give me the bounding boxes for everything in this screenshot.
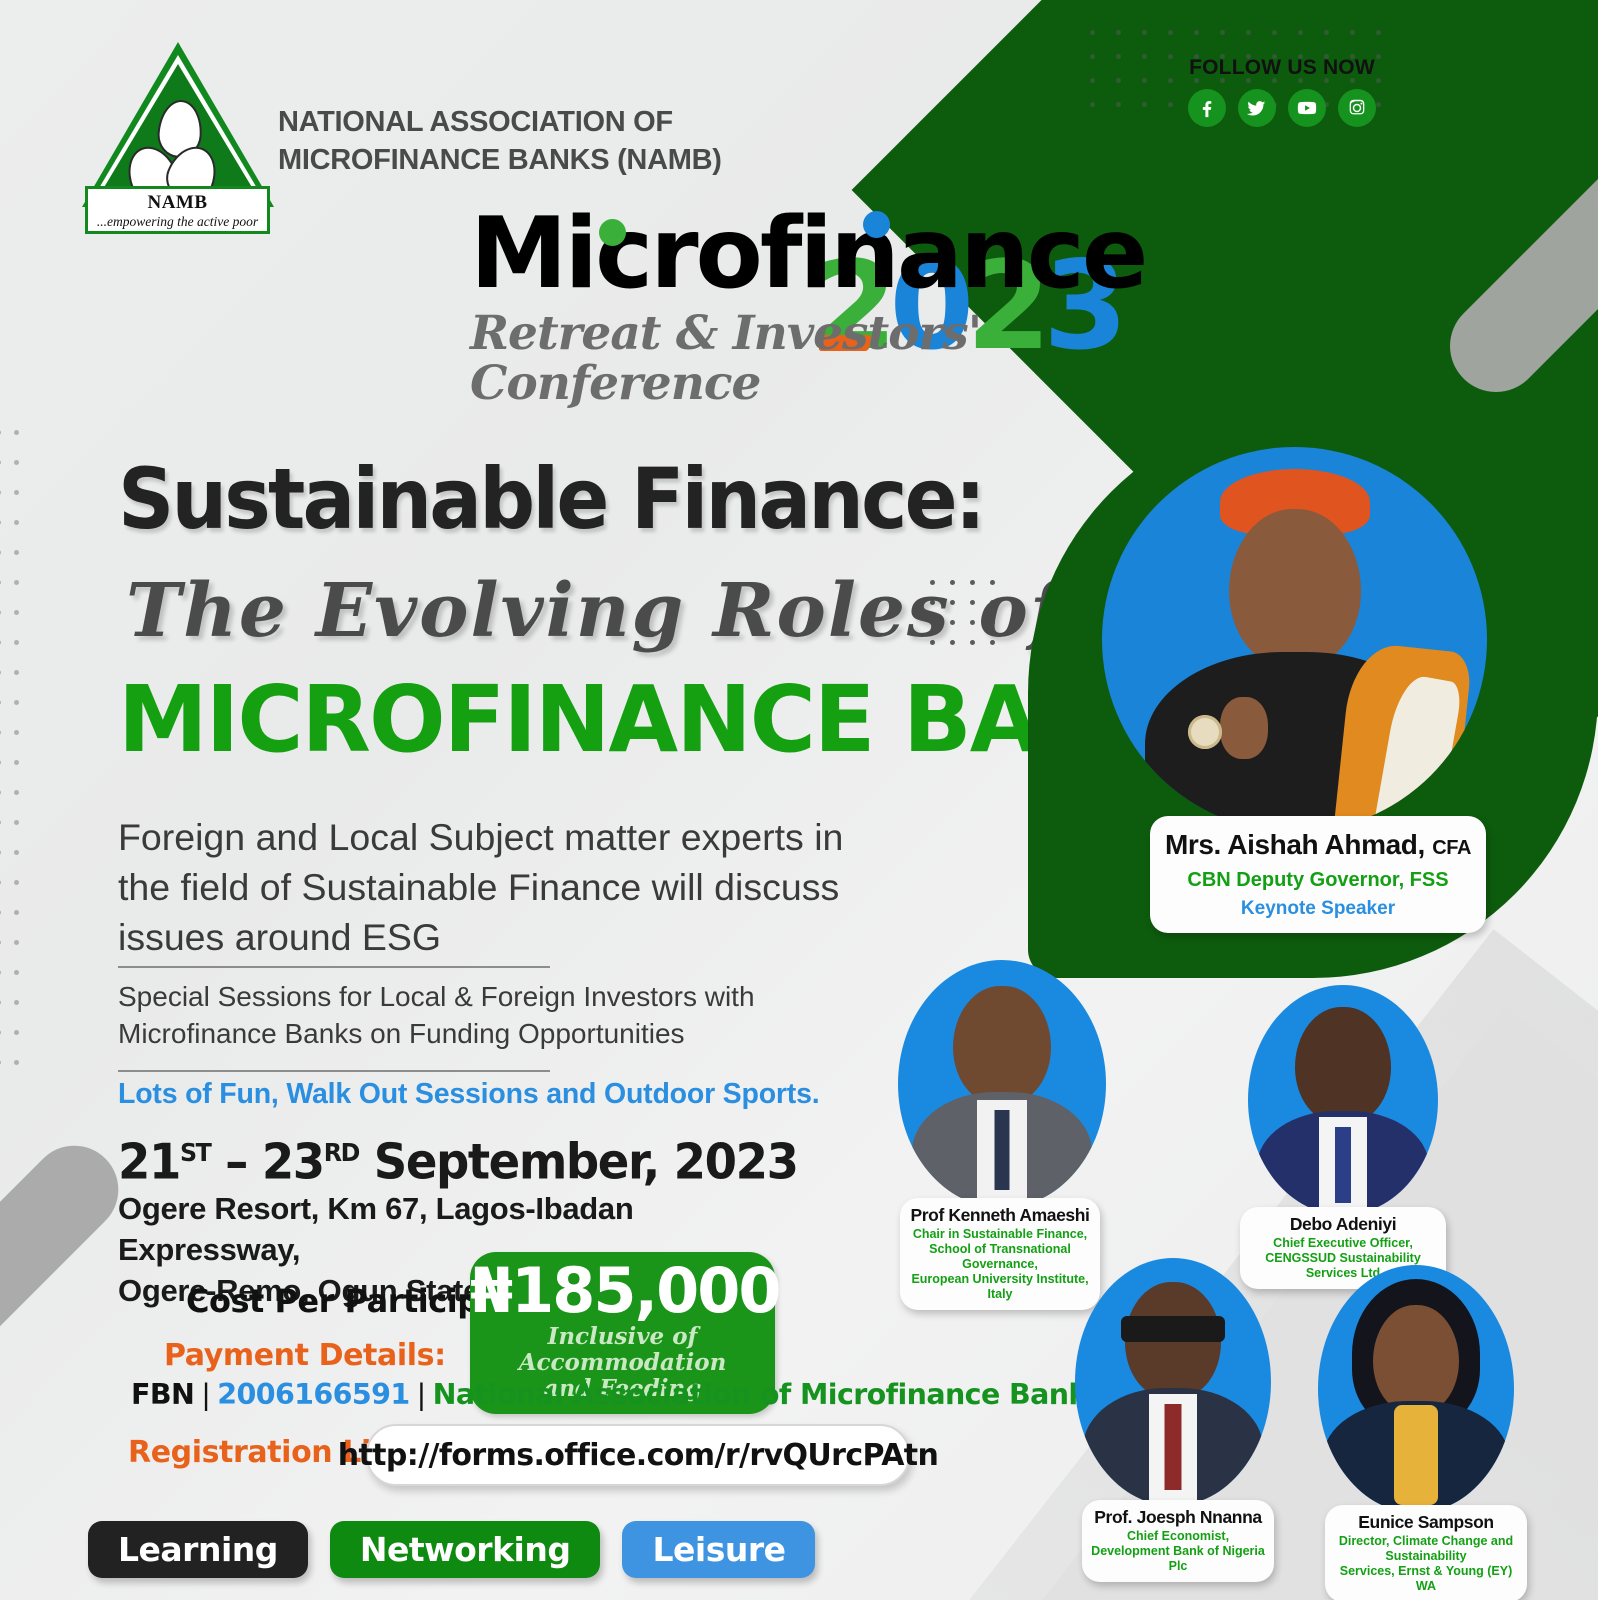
logo-subtitle-line2: Conference (470, 359, 1110, 409)
date-month-year: September, 2023 (374, 1133, 798, 1190)
logo-nameplate: NAMB ...empowering the active poor (85, 186, 270, 234)
speaker-photo-adeniyi (1248, 985, 1438, 1215)
gray-diagonal-bar-bottom (0, 1127, 137, 1472)
keynote-speaker-name: Mrs. Aishah Ahmad, CFA (1156, 828, 1480, 865)
keynote-speaker-tag: Keynote Speaker (1156, 896, 1480, 921)
organization-name-line2: MICROFINANCE BANKS (NAMB) (278, 141, 722, 179)
date-day-start-suffix: ST (180, 1138, 210, 1167)
speaker-name-sampson: Eunice Sampson (1330, 1512, 1522, 1533)
speaker-role-amaeshi: Chair in Sustainable Finance, School of … (905, 1227, 1095, 1302)
speaker-name-adeniyi: Debo Adeniyi (1245, 1214, 1441, 1235)
headline-line1: Sustainable Finance: (118, 455, 983, 543)
date-day-end-suffix: RD (324, 1138, 359, 1167)
social-icon-row (1188, 89, 1376, 127)
fun-activities-text: Lots of Fun, Walk Out Sessions and Outdo… (118, 1078, 819, 1111)
logo-wordmark: Microfinance (470, 205, 1110, 303)
organization-name: NATIONAL ASSOCIATION OF MICROFINANCE BAN… (278, 103, 722, 179)
keynote-speaker-role: CBN Deputy Governor, FSS (1156, 867, 1480, 893)
keynote-name-suffix: CFA (1432, 837, 1471, 859)
date-dash: – (225, 1133, 247, 1190)
price-note-line1: Inclusive of Accommodation (470, 1324, 775, 1376)
headline-line2: The Evolving Roles of (126, 570, 1064, 652)
speaker-role-sampson: Director, Climate Change and Sustainabil… (1330, 1534, 1522, 1594)
pill-networking[interactable]: Networking (330, 1521, 601, 1578)
youtube-icon[interactable] (1288, 89, 1326, 127)
speaker-photo-nnanna (1075, 1258, 1271, 1506)
logo-subtitle-line1: Retreat & Investors' (470, 309, 1110, 359)
logo-dot-i (599, 219, 626, 246)
instagram-icon[interactable] (1338, 89, 1376, 127)
speaker-role-amaeshi-l1: Chair in Sustainable Finance, (905, 1227, 1095, 1242)
speaker-role-amaeshi-l2: School of Transnational Governance, (905, 1242, 1095, 1272)
speaker-card-sampson: Eunice Sampson Director, Climate Change … (1325, 1505, 1527, 1600)
organization-name-line1: NATIONAL ASSOCIATION OF (278, 103, 722, 141)
registration-url: http://forms.office.com/r/rvQUrcPAtn (338, 1438, 939, 1473)
date-day-end: 23 (262, 1133, 324, 1190)
keynote-speaker-photo (1102, 447, 1487, 832)
registration-link-button[interactable]: http://forms.office.com/r/rvQUrcPAtn (366, 1424, 910, 1486)
facebook-icon[interactable] (1188, 89, 1226, 127)
payment-bank: FBN (131, 1378, 194, 1411)
event-poster: NAMB ...empowering the active poor NATIO… (0, 0, 1598, 1600)
speaker-role-nnanna-l2: Development Bank of Nigeria Plc (1087, 1544, 1269, 1574)
price-amount: ₦185,000 (470, 1260, 775, 1322)
speaker-photo-sampson (1318, 1265, 1514, 1513)
divider-1 (118, 966, 550, 968)
speaker-card-amaeshi: Prof Kenneth Amaeshi Chair in Sustainabl… (900, 1198, 1100, 1310)
microfinance-2023-logo: 2023 Microfinance Retreat & Investors' C… (470, 205, 1110, 410)
logo-acronym: NAMB (88, 192, 267, 214)
speaker-role-sampson-l1: Director, Climate Change and Sustainabil… (1330, 1534, 1522, 1564)
speaker-role-amaeshi-l3: European University Institute, Italy (905, 1272, 1095, 1302)
speaker-card-nnanna: Prof. Joesph Nnanna Chief Economist, Dev… (1082, 1500, 1274, 1582)
payment-account-number: 2006166591 (217, 1378, 409, 1411)
namb-logo: NAMB ...empowering the active poor (82, 42, 275, 234)
speaker-role-nnanna: Chief Economist, Development Bank of Nig… (1087, 1529, 1269, 1574)
theme-pill-row: Learning Networking Leisure (88, 1521, 815, 1578)
speaker-role-adeniyi-l1: Chief Executive Officer, (1245, 1236, 1441, 1251)
pill-leisure[interactable]: Leisure (622, 1521, 815, 1578)
speaker-role-nnanna-l1: Chief Economist, (1087, 1529, 1269, 1544)
divider-2 (118, 1070, 550, 1072)
special-sessions-text: Special Sessions for Local & Foreign Inv… (118, 978, 798, 1052)
payment-details-label: Payment Details: (164, 1338, 446, 1373)
speaker-name-nnanna: Prof. Joesph Nnanna (1087, 1507, 1269, 1528)
dot-pattern-left-edge (0, 430, 32, 1090)
body-main-text: Foreign and Local Subject matter experts… (118, 812, 878, 962)
keynote-name-text: Mrs. Aishah Ahmad, (1165, 829, 1425, 860)
speaker-photo-amaeshi (898, 960, 1106, 1208)
payment-account-name: National Association of Microfinance Ban… (433, 1378, 1104, 1411)
speaker-name-amaeshi: Prof Kenneth Amaeshi (905, 1205, 1095, 1226)
logo-tagline: ...empowering the active poor (88, 214, 267, 229)
event-date: 21ST – 23RD September, 2023 (118, 1123, 798, 1192)
pill-learning[interactable]: Learning (88, 1521, 308, 1578)
twitter-icon[interactable] (1238, 89, 1276, 127)
speaker-role-sampson-l2: Services, Ernst & Young (EY) WA (1330, 1564, 1522, 1594)
logo-subtitle: Retreat & Investors' Conference (470, 309, 1110, 409)
follow-us-block: FOLLOW US NOW (1188, 56, 1376, 127)
follow-us-title: FOLLOW US NOW (1188, 56, 1376, 80)
date-day-start: 21 (118, 1133, 180, 1190)
logo-dot-f (863, 211, 890, 238)
payment-details-value: FBN|2006166591|National Association of M… (131, 1378, 1103, 1411)
keynote-speaker-card: Mrs. Aishah Ahmad, CFA CBN Deputy Govern… (1150, 816, 1486, 933)
